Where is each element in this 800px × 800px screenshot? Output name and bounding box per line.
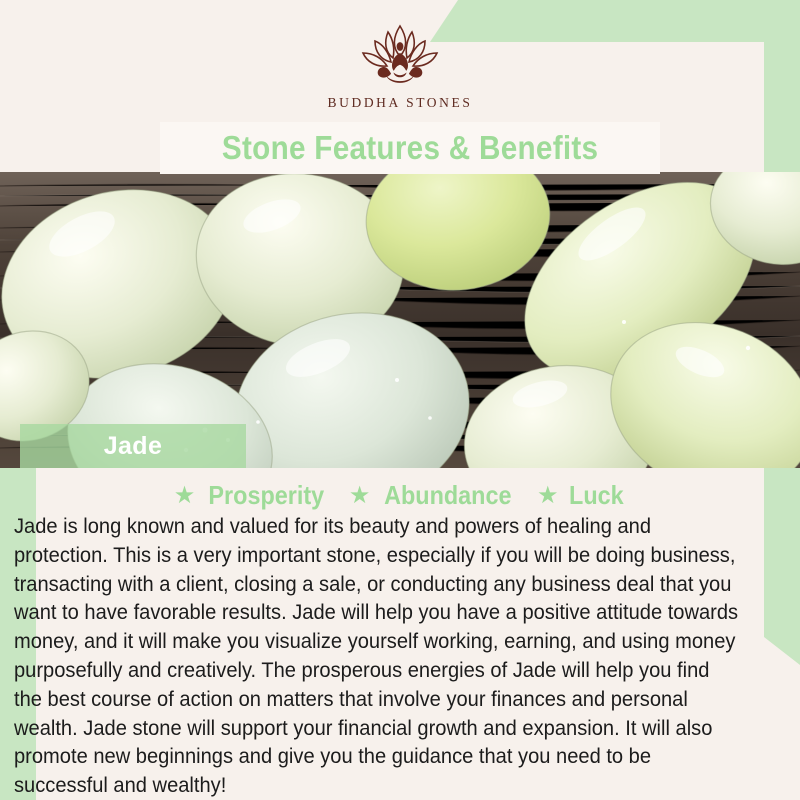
benefit-item: ★ Luck	[537, 480, 626, 511]
page-title: Stone Features & Benefits	[222, 129, 598, 167]
title-band: Stone Features & Benefits	[160, 122, 660, 174]
benefits-row: ★ Prosperity ★ Abundance ★ Luck	[0, 480, 800, 511]
star-icon: ★	[537, 484, 559, 508]
benefit-label: Abundance	[385, 480, 512, 511]
benefit-label: Prosperity	[209, 480, 325, 511]
brand-header: BUDDHA STONES	[0, 0, 800, 124]
stone-description: Jade is long known and valued for its be…	[14, 512, 740, 800]
benefit-label: Luck	[569, 480, 624, 511]
benefit-item: ★ Prosperity	[174, 480, 331, 511]
stone-name: Jade	[104, 432, 163, 461]
benefit-item: ★ Abundance	[349, 480, 519, 511]
stone-name-banner: Jade	[20, 424, 246, 468]
star-icon: ★	[174, 484, 196, 508]
brand-name: BUDDHA STONES	[328, 95, 473, 111]
star-icon: ★	[349, 484, 371, 508]
poster-root: BUDDHA STONES Stone Features & Benefits	[0, 0, 800, 800]
lotus-meditation-icon	[348, 22, 452, 86]
